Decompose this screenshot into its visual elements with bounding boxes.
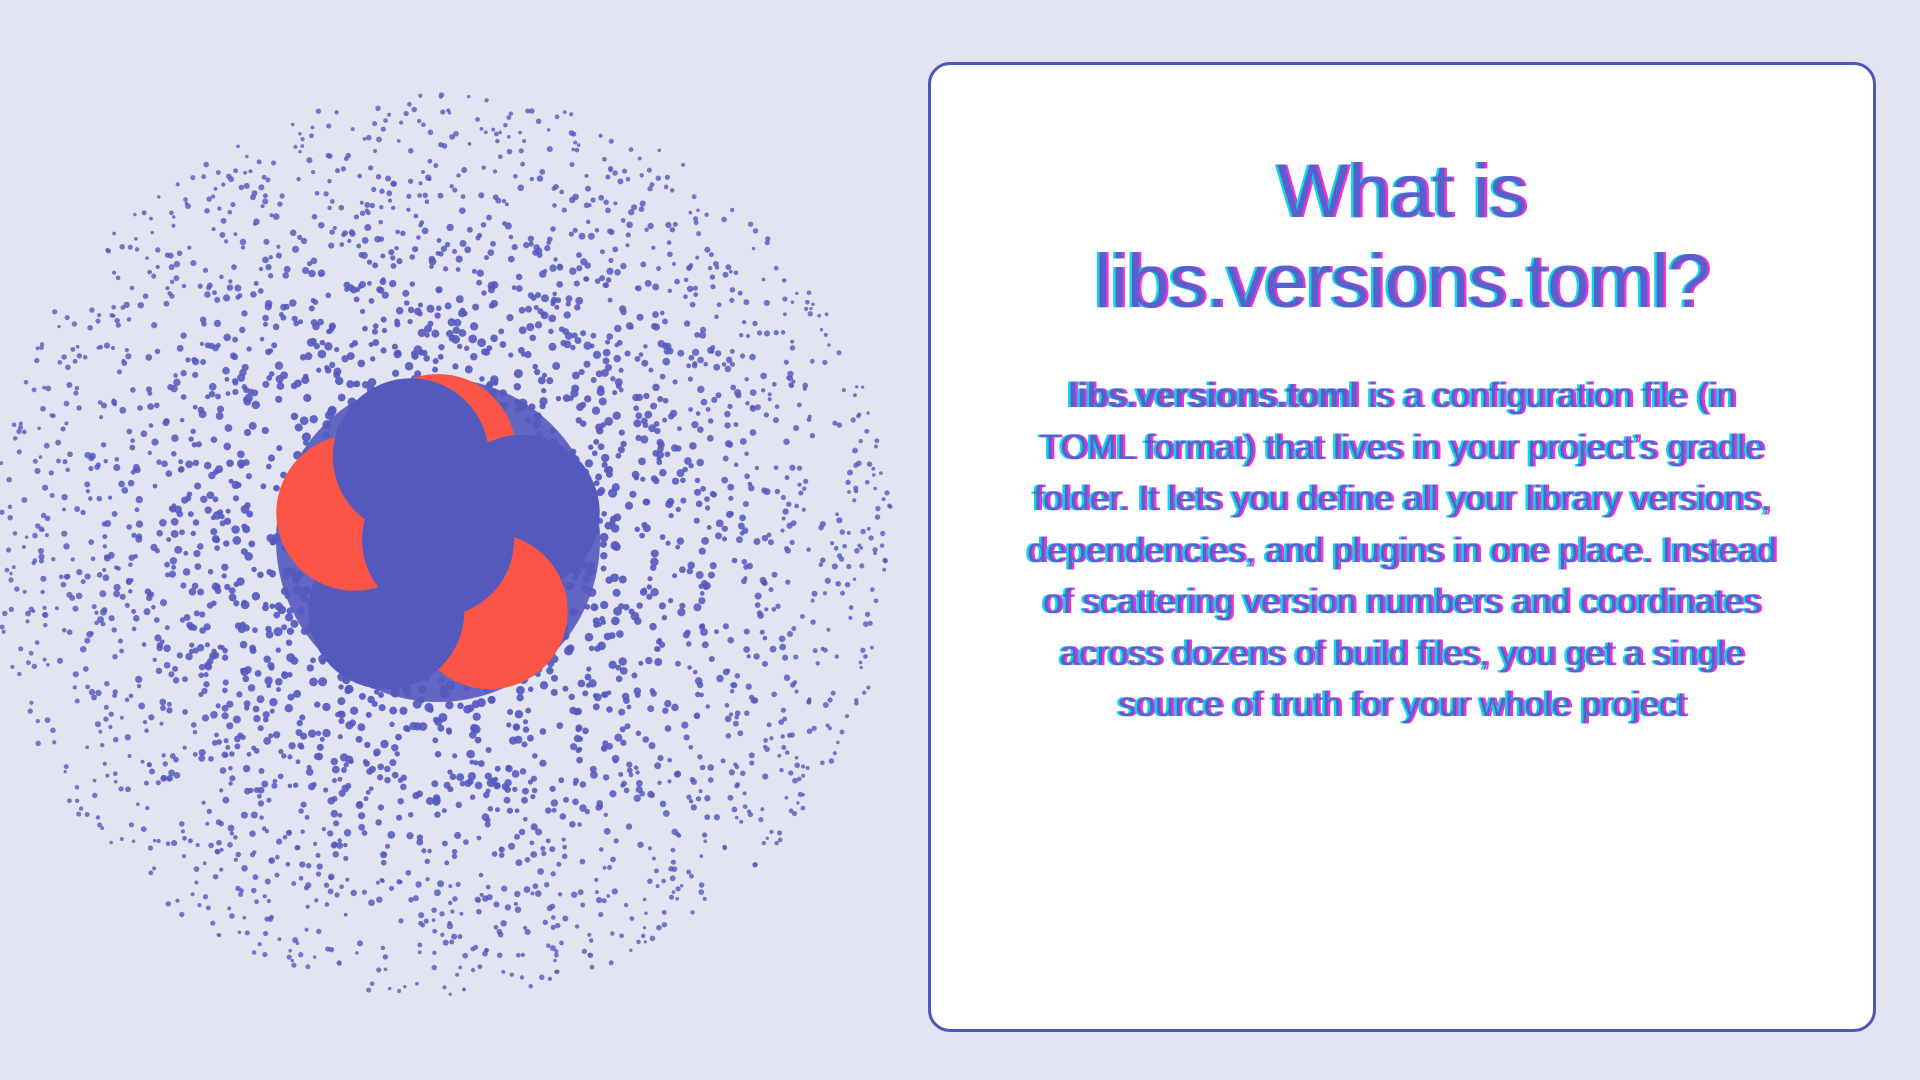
card-title: What is libs.versions.toml?	[1094, 147, 1710, 326]
molecule-flower-icon	[228, 330, 648, 750]
info-card: What is libs.versions.toml? libs.version…	[928, 62, 1876, 1032]
graphic-panel	[0, 0, 928, 1080]
card-body-paragraph: libs.versions.toml is a configuration fi…	[1022, 370, 1782, 730]
card-title-line-2: libs.versions.toml?	[1094, 237, 1710, 327]
card-title-line-1: What is	[1094, 147, 1710, 237]
card-body-text: is a configuration file (in TOML format)…	[1027, 376, 1776, 724]
card-body-term: libs.versions.toml	[1068, 376, 1358, 415]
